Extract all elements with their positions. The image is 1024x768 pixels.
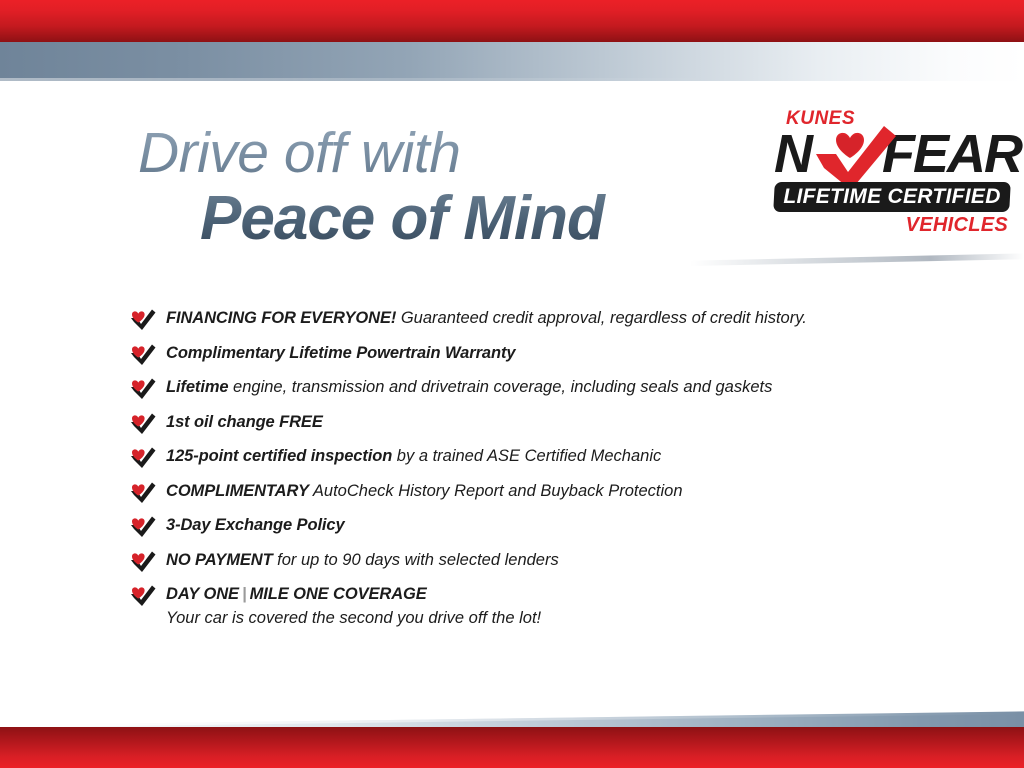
list-item-subtext: Your car is covered the second you drive… <box>166 608 930 628</box>
list-item-text: 125-point certified inspection by a trai… <box>166 446 930 466</box>
list-item: 1st oil change FREE <box>130 412 930 432</box>
bottom-red-band <box>0 727 1024 768</box>
list-item: COMPLIMENTARY AutoCheck History Report a… <box>130 481 930 501</box>
list-item-text: DAY ONE|MILE ONE COVERAGE <box>166 584 930 604</box>
list-item-normal: Guaranteed credit approval, regardless o… <box>396 309 807 327</box>
list-item-strong: 1st oil change FREE <box>166 413 323 431</box>
top-gray-band <box>0 42 1024 81</box>
list-item: 3-Day Exchange Policy <box>130 515 930 535</box>
check-heart-bullet-icon <box>130 344 156 365</box>
list-item-text: FINANCING FOR EVERYONE! Guaranteed credi… <box>166 308 930 328</box>
list-item: NO PAYMENT for up to 90 days with select… <box>130 550 930 570</box>
list-item-strong: Lifetime <box>166 378 228 396</box>
check-heart-bullet-icon <box>130 551 156 572</box>
list-item: Complimentary Lifetime Powertrain Warran… <box>130 343 930 363</box>
check-heart-bullet-icon <box>130 309 156 330</box>
benefits-list: FINANCING FOR EVERYONE! Guaranteed credi… <box>130 308 930 643</box>
list-item-text: COMPLIMENTARY AutoCheck History Report a… <box>166 481 930 501</box>
check-heart-bullet-icon <box>130 585 156 606</box>
list-item: FINANCING FOR EVERYONE! Guaranteed credi… <box>130 308 930 328</box>
check-heart-icon <box>810 124 898 190</box>
check-heart-bullet-icon <box>130 378 156 399</box>
logo-word-fear: FEAR <box>882 126 1021 182</box>
headline-line-1: Drive off with <box>138 125 738 182</box>
logo-certified-text: LIFETIME CERTIFIED <box>774 182 1010 212</box>
list-item-normal: by a trained ASE Certified Mechanic <box>392 447 661 465</box>
kunes-no-fear-logo: KUNES N FEAR LIFETIME CERTIFIED VEHICLES <box>770 108 1014 248</box>
check-heart-bullet-icon <box>130 447 156 468</box>
list-item-strong: COMPLIMENTARY <box>166 482 309 500</box>
list-item-strong: NO PAYMENT <box>166 551 273 569</box>
headline-block: Drive off with Peace of Mind <box>138 125 738 250</box>
list-item-normal: for up to 90 days with selected lenders <box>273 551 559 569</box>
logo-wordmark: N FEAR <box>770 126 1014 188</box>
list-item-strong: 3-Day Exchange Policy <box>166 516 345 534</box>
list-item: DAY ONE|MILE ONE COVERAGE Your car is co… <box>130 584 930 628</box>
list-item-separator: | <box>239 585 250 603</box>
list-item-strong: Complimentary Lifetime Powertrain Warran… <box>166 344 515 362</box>
list-item-text: 3-Day Exchange Policy <box>166 515 930 535</box>
list-item-text: 1st oil change FREE <box>166 412 930 432</box>
list-item: 125-point certified inspection by a trai… <box>130 446 930 466</box>
logo-certified-bar: LIFETIME CERTIFIED <box>773 182 1011 212</box>
headline-divider <box>690 252 1024 266</box>
check-heart-bullet-icon <box>130 413 156 434</box>
list-item-text: Complimentary Lifetime Powertrain Warran… <box>166 343 930 363</box>
logo-letter-n: N <box>774 126 811 182</box>
logo-vehicles-text: VEHICLES <box>906 214 1008 237</box>
headline-line-2: Peace of Mind <box>200 188 738 250</box>
list-item: Lifetime engine, transmission and drivet… <box>130 377 930 397</box>
list-item-strong: DAY ONE <box>166 585 239 603</box>
check-heart-bullet-icon <box>130 482 156 503</box>
promo-banner: Drive off with Peace of Mind KUNES N FEA… <box>0 0 1024 768</box>
check-heart-bullet-icon <box>130 516 156 537</box>
list-item-strong: 125-point certified inspection <box>166 447 392 465</box>
list-item-normal: AutoCheck History Report and Buyback Pro… <box>309 482 683 500</box>
list-item-normal: engine, transmission and drivetrain cove… <box>228 378 772 396</box>
list-item-strong-2: MILE ONE COVERAGE <box>250 585 427 603</box>
top-red-band <box>0 0 1024 42</box>
list-item-strong: FINANCING FOR EVERYONE! <box>166 309 396 327</box>
list-item-text: Lifetime engine, transmission and drivet… <box>166 377 930 397</box>
list-item-text: NO PAYMENT for up to 90 days with select… <box>166 550 930 570</box>
